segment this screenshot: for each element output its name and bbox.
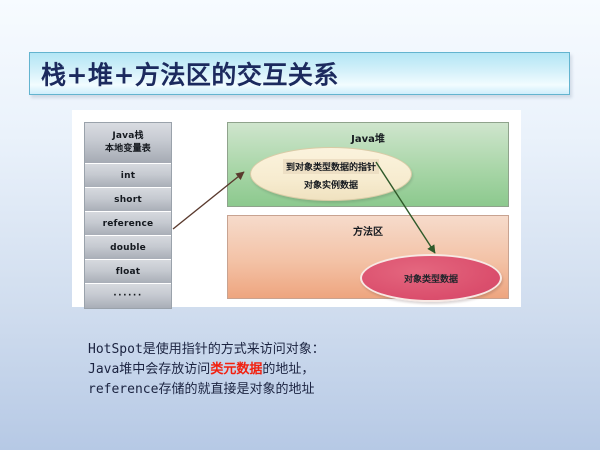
caption-block: HotSpot是使用指针的方式来访问对象： Java堆中会存放访问类元数据的地址… (88, 340, 325, 400)
caption-line-2-post: 的地址， (262, 362, 314, 377)
stack-row-double: double (85, 236, 171, 260)
instance-data-label: 对象实例数据 (251, 178, 411, 191)
caption-line-2-pre: Java堆中会存放访问 (88, 362, 210, 377)
slide: 栈+堆+方法区的交互关系 Java栈 本地变量表 int short refer… (0, 0, 600, 450)
slide-title-bar: 栈+堆+方法区的交互关系 (29, 52, 570, 95)
stack-row-float: float (85, 260, 171, 284)
caption-line-3: reference存储的就直接是对象的地址 (88, 380, 325, 400)
caption-line-1: HotSpot是使用指针的方式来访问对象： (88, 340, 325, 360)
stack-row-label: reference (103, 219, 154, 229)
stack-row-label: ······ (113, 291, 143, 301)
stack-row-ellipsis: ······ (85, 284, 171, 308)
stack-row-label: short (114, 195, 142, 205)
pointer-to-type-data-label: 到对象类型数据的指针 (283, 159, 379, 174)
java-heap-panel: Java堆 到对象类型数据的指针 对象实例数据 (227, 122, 509, 207)
java-heap-title: Java堆 (228, 130, 508, 145)
diagram-figure: Java栈 本地变量表 int short reference double f… (72, 110, 521, 307)
object-type-data-ellipse: 对象类型数据 (360, 254, 502, 302)
stack-row-int: int (85, 164, 171, 188)
object-type-data-label: 对象类型数据 (404, 272, 458, 285)
method-area-title: 方法区 (228, 223, 508, 238)
stack-row-label: int (121, 171, 135, 181)
stack-header-line1: Java栈 (112, 130, 143, 143)
stack-row-reference: reference (85, 212, 171, 236)
method-area-panel: 方法区 对象类型数据 (227, 215, 509, 299)
stack-header-line2: 本地变量表 (105, 143, 151, 156)
caption-highlight-metadata: 类元数据 (210, 362, 262, 377)
java-stack-table: Java栈 本地变量表 int short reference double f… (84, 122, 172, 309)
heap-object-ellipse: 到对象类型数据的指针 对象实例数据 (250, 147, 412, 201)
stack-row-short: short (85, 188, 171, 212)
page-title: 栈+堆+方法区的交互关系 (41, 55, 339, 91)
caption-line-2: Java堆中会存放访问类元数据的地址， (88, 360, 325, 380)
stack-row-label: double (110, 243, 146, 253)
stack-table-header: Java栈 本地变量表 (85, 123, 171, 164)
stack-row-label: float (116, 267, 141, 277)
